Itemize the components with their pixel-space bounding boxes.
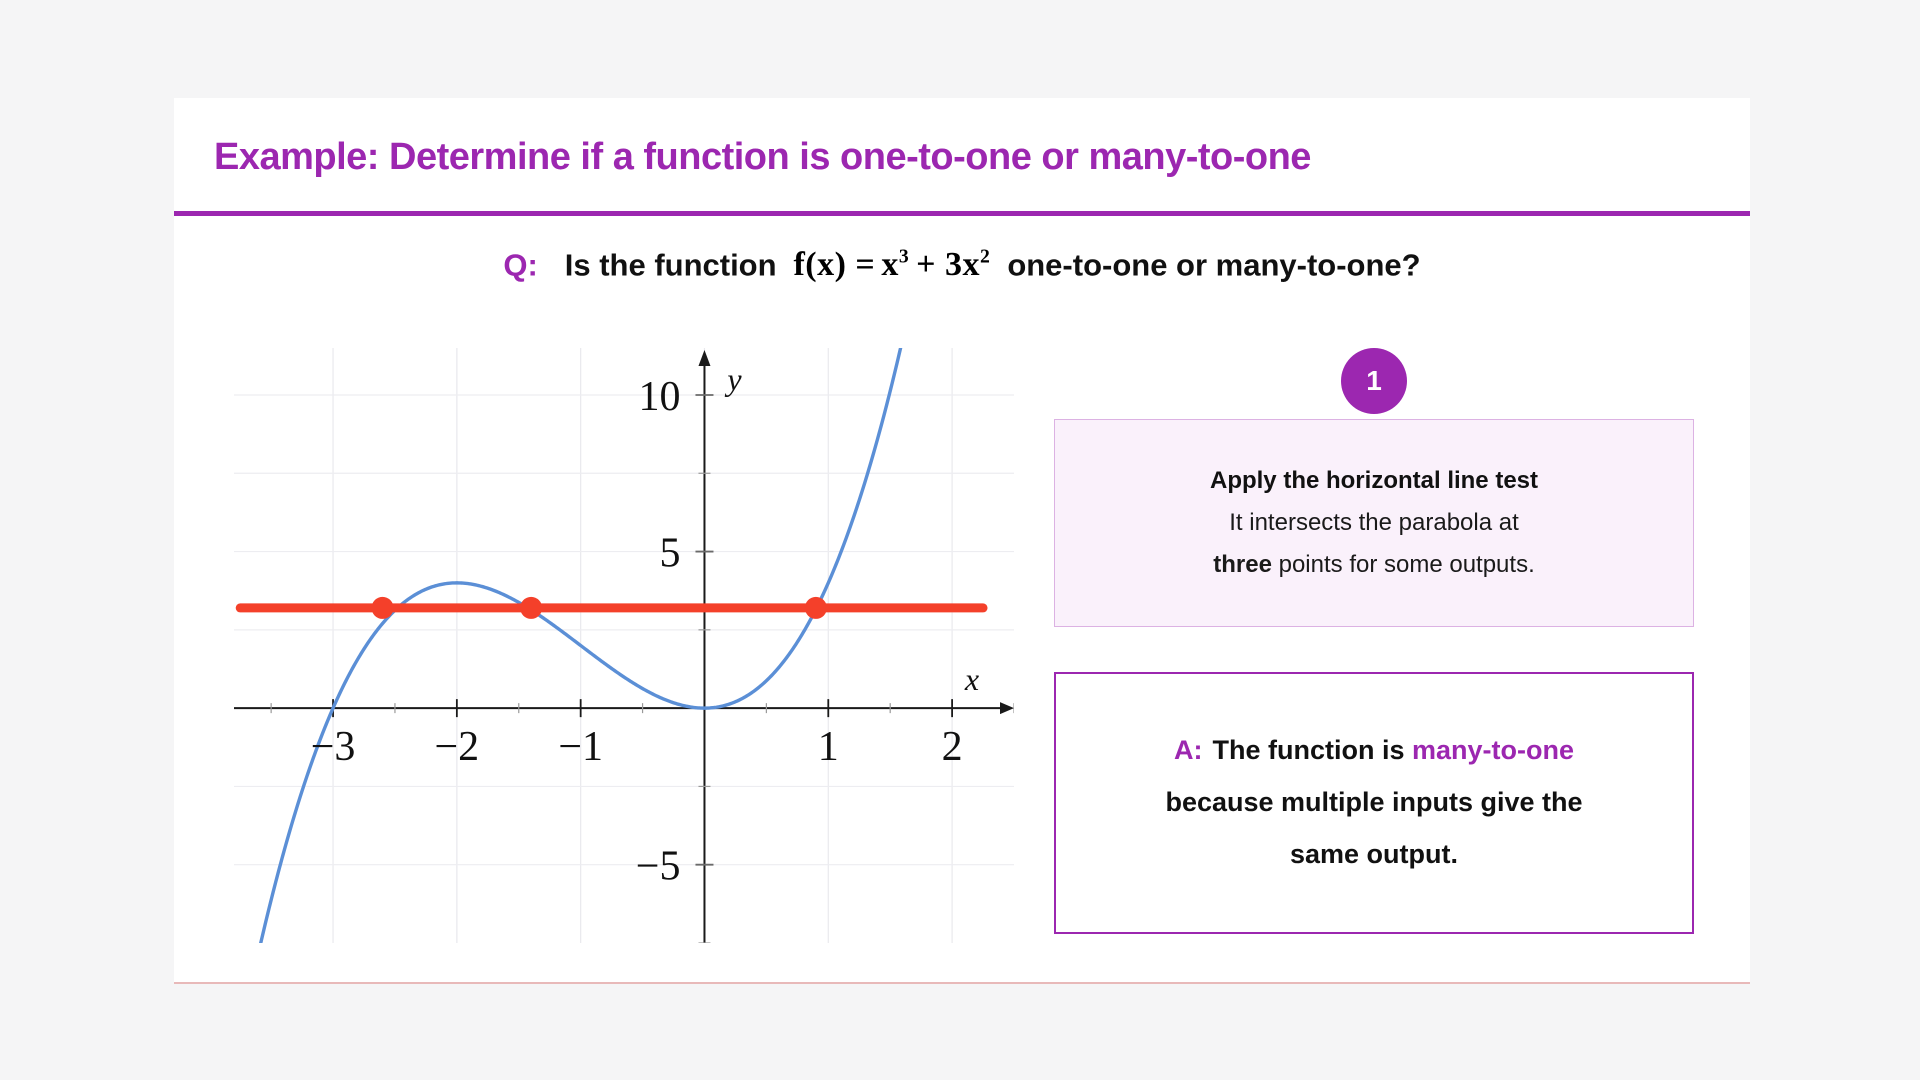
question-text-after: one-to-one or many-to-one? xyxy=(1007,247,1420,282)
step-heading: Apply the horizontal line test xyxy=(1210,467,1538,495)
slide-card: Example: Determine if a function is one-… xyxy=(174,98,1750,984)
question-text-before: Is the function xyxy=(565,247,777,282)
svg-text:1: 1 xyxy=(818,724,839,770)
explanation-column: 1 Apply the horizontal line test It inte… xyxy=(1054,348,1694,943)
grid-lines xyxy=(234,348,1014,943)
svg-text:2: 2 xyxy=(942,724,963,770)
svg-text:y: y xyxy=(724,361,742,397)
answer-tag: A: xyxy=(1174,735,1203,765)
graph-panel: −3−2−112−5510yx xyxy=(234,348,1014,943)
page-title: Example: Determine if a function is one-… xyxy=(214,136,1311,179)
answer-line-3: same output. xyxy=(1290,840,1458,870)
answer-line-2: because multiple inputs give the xyxy=(1165,788,1582,818)
step-line-1: It intersects the parabola at xyxy=(1229,509,1519,537)
function-graph: −3−2−112−5510yx xyxy=(234,348,1014,943)
answer-highlight: many-to-one xyxy=(1412,735,1574,765)
step-card: Apply the horizontal line test It inters… xyxy=(1054,419,1694,627)
svg-text:−5: −5 xyxy=(636,844,681,890)
svg-text:−1: −1 xyxy=(558,724,603,770)
step-number-badge: 1 xyxy=(1341,348,1407,414)
curve-series xyxy=(234,348,1014,943)
step-line-2: three points for some outputs. xyxy=(1213,551,1535,579)
answer-line-1-plain: The function is xyxy=(1213,735,1413,765)
svg-text:−2: −2 xyxy=(435,724,480,770)
step-line-2-bold: three xyxy=(1213,551,1272,578)
question-tag: Q: xyxy=(503,247,537,282)
step-number-label: 1 xyxy=(1366,365,1382,397)
step-line-2-rest: points for some outputs. xyxy=(1272,551,1535,578)
answer-card: A:The function is many-to-one because mu… xyxy=(1054,672,1694,934)
answer-line-1: A:The function is many-to-one xyxy=(1174,736,1574,766)
axes xyxy=(234,350,1014,943)
svg-text:x: x xyxy=(964,661,979,697)
svg-text:−3: −3 xyxy=(311,724,356,770)
svg-text:10: 10 xyxy=(638,374,680,420)
slide-header: Example: Determine if a function is one-… xyxy=(174,98,1750,216)
svg-text:5: 5 xyxy=(659,531,680,577)
function-formula: f(x) =x3+ 3x2 xyxy=(793,246,990,283)
question-row: Q: Is the function f(x) =x3+ 3x2 one-to-… xyxy=(174,246,1750,284)
